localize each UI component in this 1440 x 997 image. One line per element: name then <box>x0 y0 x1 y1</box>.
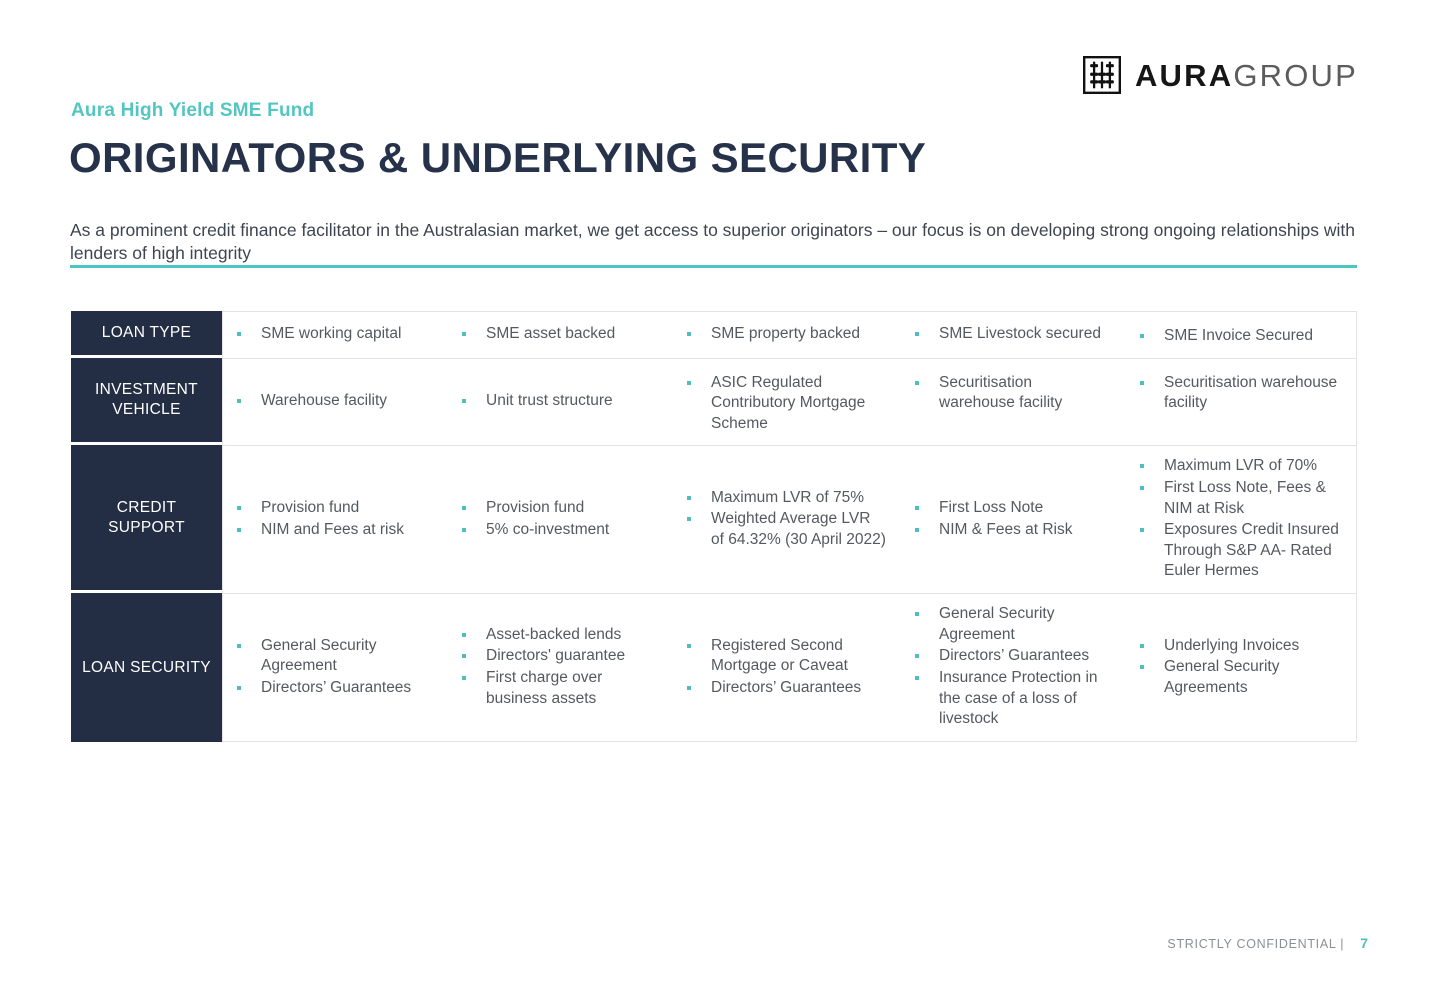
bullet-list: Underlying InvoicesGeneral Security Agre… <box>1138 636 1342 700</box>
bullet-item: ASIC Regulated Contributory Mortgage Sch… <box>685 373 887 435</box>
page-number: 7 <box>1360 935 1368 951</box>
table-cell: Provision fundNIM and Fees at risk <box>223 446 448 593</box>
bullet-item: General Security Agreements <box>1138 657 1342 698</box>
bullet-item: Registered Second Mortgage or Caveat <box>685 636 887 677</box>
table-row: LOAN SECURITYGeneral Security AgreementD… <box>71 593 1357 742</box>
table-row: LOAN TYPESME working capitalSME asset ba… <box>71 311 1357 358</box>
bullet-item: NIM and Fees at risk <box>235 520 434 541</box>
row-label: INVESTMENT VEHICLE <box>71 358 222 446</box>
bullet-list: Securitisation warehouse facility <box>913 373 1112 415</box>
bullet-item: SME Invoice Secured <box>1138 326 1342 347</box>
bullet-item: Asset-backed lends <box>460 625 659 646</box>
page-title: ORIGINATORS & UNDERLYING SECURITY <box>69 134 926 181</box>
confidentiality-notice: STRICTLY CONFIDENTIAL | <box>1167 937 1344 951</box>
bullet-list: Provision fund5% co-investment <box>460 498 659 541</box>
bullet-list: First Loss NoteNIM & Fees at Risk <box>913 498 1112 541</box>
row-label: LOAN TYPE <box>71 311 222 358</box>
bullet-item: SME Livestock secured <box>913 324 1112 345</box>
bullet-item: SME working capital <box>235 324 434 345</box>
table-cell: Underlying InvoicesGeneral Security Agre… <box>1126 594 1356 741</box>
brand-wordmark: AURAGROUP <box>1135 60 1358 91</box>
table-body: LOAN TYPESME working capitalSME asset ba… <box>71 311 1357 742</box>
intro-paragraph: As a prominent credit finance facilitato… <box>70 219 1360 265</box>
brand-logo: AURAGROUP <box>1083 56 1358 94</box>
table-cell: SME working capital <box>223 312 448 358</box>
bullet-item: Unit trust structure <box>460 391 659 412</box>
bullet-item: First Loss Note, Fees & NIM at Risk <box>1138 478 1342 519</box>
bullet-list: General Security AgreementDirectors’ Gua… <box>913 604 1112 731</box>
bullet-item: Directors’ Guarantees <box>685 678 887 699</box>
row-label: CREDIT SUPPORT <box>71 445 222 593</box>
bullet-item: Maximum LVR of 70% <box>1138 456 1342 477</box>
table-cell: Provision fund5% co-investment <box>448 446 673 593</box>
table-cell: Registered Second Mortgage or CaveatDire… <box>673 594 901 741</box>
column-band: Provision fundNIM and Fees at riskProvis… <box>223 446 1356 593</box>
bullet-list: SME working capital <box>235 324 434 346</box>
row-content: Warehouse facilityUnit trust structureAS… <box>222 358 1357 446</box>
bullet-list: SME Invoice Secured <box>1138 326 1342 348</box>
bullet-list: Maximum LVR of 70%First Loss Note, Fees … <box>1138 456 1342 583</box>
bullet-list: SME asset backed <box>460 324 659 346</box>
footer: STRICTLY CONFIDENTIAL | 7 <box>1167 935 1368 951</box>
bullet-list: Warehouse facility <box>235 391 434 413</box>
column-band: Warehouse facilityUnit trust structureAS… <box>223 359 1356 446</box>
table-row: CREDIT SUPPORTProvision fundNIM and Fees… <box>71 445 1357 593</box>
abacus-icon <box>1083 56 1121 94</box>
bullet-item: 5% co-investment <box>460 520 659 541</box>
slide: AURAGROUP Aura High Yield SME Fund ORIGI… <box>0 0 1440 997</box>
bullet-item: Exposures Credit Insured Through S&P AA-… <box>1138 520 1342 582</box>
column-band: General Security AgreementDirectors’ Gua… <box>223 594 1356 741</box>
row-label: LOAN SECURITY <box>71 593 222 742</box>
table-cell: General Security AgreementDirectors’ Gua… <box>223 594 448 741</box>
bullet-list: Registered Second Mortgage or CaveatDire… <box>685 636 887 700</box>
table-cell: Maximum LVR of 75%Weighted Average LVR o… <box>673 446 901 593</box>
bullet-item: General Security Agreement <box>235 636 434 677</box>
fund-name-eyebrow: Aura High Yield SME Fund <box>71 100 314 122</box>
bullet-item: Underlying Invoices <box>1138 636 1342 657</box>
bullet-list: Unit trust structure <box>460 391 659 413</box>
bullet-list: SME property backed <box>685 324 887 346</box>
bullet-list: General Security AgreementDirectors’ Gua… <box>235 636 434 700</box>
bullet-item: Insurance Protection in the case of a lo… <box>913 668 1112 730</box>
bullet-item: Directors’ Guarantees <box>913 646 1112 667</box>
table-cell: First Loss NoteNIM & Fees at Risk <box>901 446 1126 593</box>
bullet-item: NIM & Fees at Risk <box>913 520 1112 541</box>
bullet-list: Provision fundNIM and Fees at risk <box>235 498 434 541</box>
bullet-item: Directors' guarantee <box>460 646 659 667</box>
bullet-item: Maximum LVR of 75% <box>685 488 887 509</box>
row-content: General Security AgreementDirectors’ Gua… <box>222 593 1357 742</box>
table-cell: General Security AgreementDirectors’ Gua… <box>901 594 1126 741</box>
bullet-item: SME asset backed <box>460 324 659 345</box>
bullet-item: Weighted Average LVR of 64.32% (30 April… <box>685 509 887 550</box>
table-cell: SME Invoice Secured <box>1126 312 1356 358</box>
bullet-item: Securitisation warehouse facility <box>1138 373 1342 414</box>
table-cell: Asset-backed lendsDirectors' guaranteeFi… <box>448 594 673 741</box>
brand-name-bold: AURA <box>1135 58 1233 93</box>
bullet-item: Provision fund <box>235 498 434 519</box>
bullet-list: Securitisation warehouse facility <box>1138 373 1342 415</box>
table-cell: Securitisation warehouse facility <box>1126 359 1356 446</box>
row-content: Provision fundNIM and Fees at riskProvis… <box>222 445 1357 593</box>
bullet-item: Securitisation warehouse facility <box>913 373 1112 414</box>
bullet-item: Provision fund <box>460 498 659 519</box>
bullet-item: First charge over business assets <box>460 668 659 709</box>
accent-divider <box>70 265 1357 268</box>
bullet-item: Directors’ Guarantees <box>235 678 434 699</box>
bullet-list: SME Livestock secured <box>913 324 1112 346</box>
table-cell: ASIC Regulated Contributory Mortgage Sch… <box>673 359 901 446</box>
bullet-item: Warehouse facility <box>235 391 434 412</box>
bullet-list: Asset-backed lendsDirectors' guaranteeFi… <box>460 625 659 710</box>
table-cell: Warehouse facility <box>223 359 448 446</box>
bullet-list: Maximum LVR of 75%Weighted Average LVR o… <box>685 488 887 552</box>
row-content: SME working capitalSME asset backedSME p… <box>222 311 1357 358</box>
table-cell: Maximum LVR of 70%First Loss Note, Fees … <box>1126 446 1356 593</box>
bullet-item: First Loss Note <box>913 498 1112 519</box>
table-row: INVESTMENT VEHICLEWarehouse facilityUnit… <box>71 358 1357 446</box>
bullet-item: General Security Agreement <box>913 604 1112 645</box>
table-cell: SME property backed <box>673 312 901 358</box>
bullet-list: ASIC Regulated Contributory Mortgage Sch… <box>685 373 887 436</box>
table-cell: Securitisation warehouse facility <box>901 359 1126 446</box>
table-cell: SME Livestock secured <box>901 312 1126 358</box>
column-band: SME working capitalSME asset backedSME p… <box>223 312 1356 358</box>
originators-table: LOAN TYPESME working capitalSME asset ba… <box>71 311 1357 742</box>
table-cell: SME asset backed <box>448 312 673 358</box>
table-cell: Unit trust structure <box>448 359 673 446</box>
bullet-item: SME property backed <box>685 324 887 345</box>
brand-name-light: GROUP <box>1233 58 1358 93</box>
